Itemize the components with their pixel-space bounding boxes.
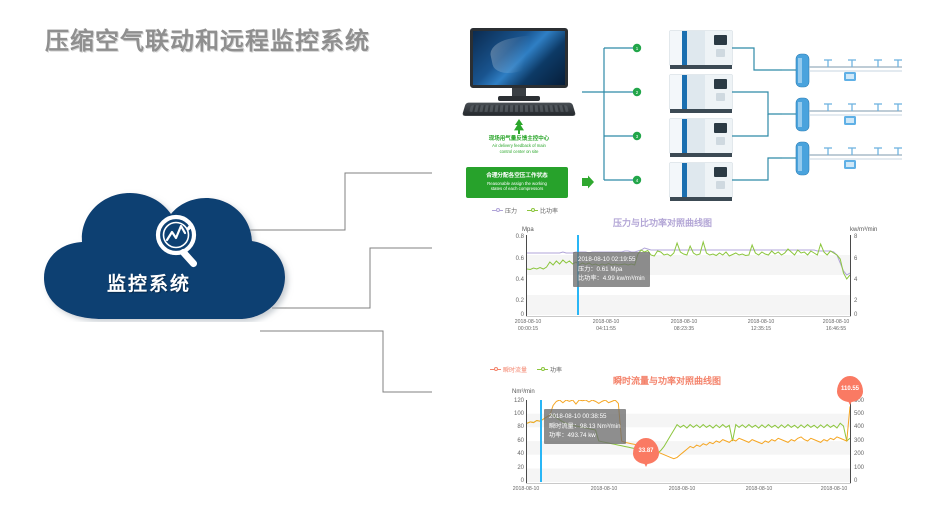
tooltip-line-1: 瞬时流量：98.13 Nm³/min bbox=[549, 422, 621, 432]
y-tick-right: 6 bbox=[854, 256, 857, 262]
flow-power-chart-panel[interactable]: 瞬时流量 功率 瞬时流量与功率对照曲线图 Nm³/min 120 100 80 … bbox=[488, 362, 888, 512]
legend-item-pressure[interactable]: 压力 bbox=[492, 206, 517, 215]
x-tick: 2018-08-10 bbox=[496, 486, 556, 493]
y-tick-right: 300 bbox=[854, 438, 864, 444]
y-tick-left: 0 bbox=[504, 478, 524, 484]
y-tick-right: 8 bbox=[854, 234, 857, 240]
assign-status-box: 合理分配各空压工作状态 Reasonable assign the workin… bbox=[466, 167, 568, 198]
legend-marker-icon bbox=[490, 367, 501, 373]
y-tick-left: 80 bbox=[504, 424, 524, 430]
y-tick-right: 500 bbox=[854, 411, 864, 417]
slide-canvas: 压缩空气联动和远程监控系统 监控系统 bbox=[0, 0, 945, 529]
y-tick-left: 0.4 bbox=[510, 277, 524, 283]
legend-label: 压力 bbox=[505, 206, 517, 215]
x-tick: 2018-08-10 bbox=[804, 486, 864, 493]
x-tick: 2018-08-10 bbox=[652, 486, 712, 493]
tooltip-timestamp: 2018-08-10 00:38:55 bbox=[549, 412, 621, 422]
y-tick-left: 0 bbox=[510, 312, 524, 318]
tree-icon bbox=[510, 118, 528, 136]
y-tick-left: 60 bbox=[504, 438, 524, 444]
assign-status-cn: 合理分配各空压工作状态 bbox=[466, 173, 568, 180]
x-tick: 2018-08-1004:11:55 bbox=[576, 319, 636, 333]
y-axis-line-left bbox=[526, 400, 527, 484]
x-tick: 2018-08-1012:35:15 bbox=[731, 319, 791, 333]
assign-status-en2: states of each compressors bbox=[466, 186, 568, 192]
chart-tooltip-pressure: 2018-08-10 02:19:55 压力：0.61 Mpa 比功率：4.99… bbox=[573, 252, 650, 287]
legend-label: 瞬时流量 bbox=[503, 365, 527, 374]
y-tick-right: 0 bbox=[854, 312, 857, 318]
compressor-network-diagram: 1 2 3 4 bbox=[582, 18, 937, 203]
chart-title-flow: 瞬时流量与功率对照曲线图 bbox=[613, 374, 721, 387]
chart-marker-pin[interactable]: 33.87 bbox=[633, 438, 659, 464]
x-tick: 2018-08-10 bbox=[729, 486, 789, 493]
legend-marker-icon bbox=[492, 208, 503, 214]
tooltip-line-1: 压力：0.61 Mpa bbox=[578, 265, 645, 275]
legend-item-flow[interactable]: 瞬时流量 bbox=[490, 365, 527, 374]
x-tick: 2018-08-1016:46:55 bbox=[806, 319, 866, 333]
y-tick-left: 40 bbox=[504, 451, 524, 457]
y-axis-unit-left: Nm³/min bbox=[512, 389, 535, 395]
monitoring-cloud[interactable]: 监控系统 bbox=[34, 181, 294, 322]
legend-label: 比功率 bbox=[540, 206, 558, 215]
y-axis-line-right bbox=[850, 400, 851, 484]
chart-marker-label: 110.55 bbox=[841, 386, 859, 392]
y-tick-left: 0.2 bbox=[510, 298, 524, 304]
y-axis-unit-left: Mpa bbox=[522, 227, 534, 233]
chart-marker-pin[interactable]: 110.55 bbox=[837, 376, 863, 402]
x-tick: 2018-08-1008:23:35 bbox=[654, 319, 714, 333]
chart-cursor-line[interactable] bbox=[540, 400, 542, 482]
y-axis-line-left bbox=[526, 235, 527, 317]
chart-title-pressure: 压力与比功率对照曲线图 bbox=[613, 216, 712, 229]
legend-marker-icon bbox=[527, 208, 538, 214]
y-tick-left: 120 bbox=[504, 398, 524, 404]
page-title: 压缩空气联动和远程监控系统 bbox=[45, 21, 370, 56]
x-tick: 2018-08-1000:00:15 bbox=[498, 319, 558, 333]
x-tick: 2018-08-10 bbox=[574, 486, 634, 493]
y-tick-right: 4 bbox=[854, 277, 857, 283]
chart-marker-label: 33.87 bbox=[638, 448, 653, 454]
feedback-caption-cn: 现场用气量反馈主控中心 bbox=[458, 136, 580, 143]
x-axis-line bbox=[526, 316, 851, 317]
y-axis-line-right bbox=[850, 235, 851, 317]
x-axis-line bbox=[526, 483, 851, 484]
y-tick-left: 100 bbox=[504, 411, 524, 417]
tooltip-line-2: 比功率：4.99 kw/m³/min bbox=[578, 274, 645, 284]
pressure-power-chart-panel[interactable]: 压力 比功率 压力与比功率对照曲线图 Mpa kw/m³/min 0.8 0.6… bbox=[488, 203, 888, 335]
chart-legend-pressure[interactable]: 压力 比功率 bbox=[492, 206, 558, 215]
tooltip-line-2: 功率：493.74 kw bbox=[549, 431, 621, 441]
feedback-caption: 现场用气量反馈主控中心 Air delivery feedback of mai… bbox=[458, 136, 580, 155]
y-tick-right: 0 bbox=[854, 478, 857, 484]
chart-tooltip-flow: 2018-08-10 00:38:55 瞬时流量：98.13 Nm³/min 功… bbox=[544, 409, 626, 444]
y-axis-unit-right: kw/m³/min bbox=[850, 227, 877, 233]
magnifier-chart-icon bbox=[149, 211, 213, 273]
chart-legend-flow[interactable]: 瞬时流量 功率 bbox=[490, 365, 562, 374]
tooltip-timestamp: 2018-08-10 02:19:55 bbox=[578, 255, 645, 265]
y-tick-right: 200 bbox=[854, 451, 864, 457]
feedback-caption-en2: control center on site bbox=[458, 149, 580, 155]
y-tick-right: 100 bbox=[854, 465, 864, 471]
desktop-monitor-icon bbox=[464, 28, 574, 116]
legend-item-specific-power[interactable]: 比功率 bbox=[527, 206, 558, 215]
y-tick-left: 0.6 bbox=[510, 256, 524, 262]
cloud-label: 监控系统 bbox=[34, 269, 264, 296]
y-tick-right: 2 bbox=[854, 298, 857, 304]
legend-item-power[interactable]: 功率 bbox=[537, 365, 562, 374]
y-tick-left: 0.8 bbox=[510, 234, 524, 240]
y-tick-left: 20 bbox=[504, 465, 524, 471]
legend-label: 功率 bbox=[550, 365, 562, 374]
y-tick-right: 400 bbox=[854, 424, 864, 430]
system-diagram-panel[interactable]: 现场用气量反馈主控中心 Air delivery feedback of mai… bbox=[432, 18, 937, 203]
legend-marker-icon bbox=[537, 367, 548, 373]
